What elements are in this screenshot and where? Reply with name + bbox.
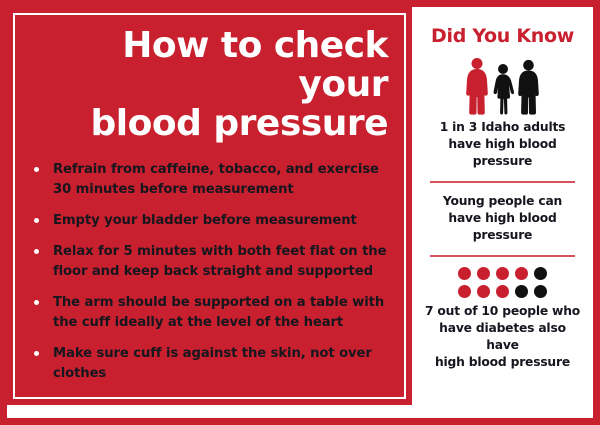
ten-dots-icon [444,267,562,298]
dot-filled [477,285,490,298]
list-item: Empty your bladder before measurement [29,211,390,231]
dot-empty [534,267,547,280]
dot-empty [515,285,528,298]
dot-filled [496,267,509,280]
fact-block-young-people: Young people can have high blood pressur… [420,193,585,244]
tip-text: Relax for 5 minutes with both feet flat … [53,244,386,279]
sidebar-divider [430,255,575,257]
dot-filled [515,267,528,280]
tip-text: Make sure cuff is against the skin, not … [53,346,372,381]
tip-text: Refrain from caffeine, tobacco, and exer… [53,162,379,197]
bullet-dot-icon [34,249,39,254]
fact-caption: 1 in 3 Idaho adults have high blood pres… [424,119,581,170]
dot-filled [458,267,471,280]
sidebar-title: Did You Know [420,25,585,47]
fact-caption: Young people can have high blood pressur… [424,193,581,244]
male-figure-red-icon [464,57,490,115]
list-item: The arm should be supported on a table w… [29,293,390,333]
tip-text: The arm should be supported on a table w… [53,295,384,330]
bullet-dot-icon [34,218,39,223]
fact-caption: 7 out of 10 people who have diabetes als… [424,303,581,371]
infographic-poster: How to check your blood pressure Refrain… [0,0,600,425]
list-item: Refrain from caffeine, tobacco, and exer… [29,160,390,200]
dot-row [444,285,562,298]
bullet-dot-icon [34,167,39,172]
three-people-icon [420,55,585,115]
fact-block-diabetes: 7 out of 10 people who have diabetes als… [420,267,585,371]
list-item: Make sure cuff is against the skin, not … [29,344,390,384]
dot-filled [496,285,509,298]
dot-filled [477,267,490,280]
page-title: How to check your blood pressure [29,27,388,144]
fact-block-idaho-adults: 1 in 3 Idaho adults have high blood pres… [420,55,585,170]
sidebar-divider [430,181,575,183]
list-item: Relax for 5 minutes with both feet flat … [29,242,390,282]
main-panel-inner-border: How to check your blood pressure Refrain… [13,13,406,399]
bullet-dot-icon [34,300,39,305]
main-red-panel: How to check your blood pressure Refrain… [7,7,412,405]
female-figure-dark-icon [492,63,514,115]
did-you-know-sidebar: Did You Know [412,7,593,418]
dot-empty [534,285,547,298]
dot-row [444,267,562,280]
dot-filled [458,285,471,298]
tips-list: Refrain from caffeine, tobacco, and exer… [29,160,390,385]
tip-text: Empty your bladder before measurement [53,213,357,228]
male-figure-dark-icon [516,59,541,115]
bullet-dot-icon [34,351,39,356]
